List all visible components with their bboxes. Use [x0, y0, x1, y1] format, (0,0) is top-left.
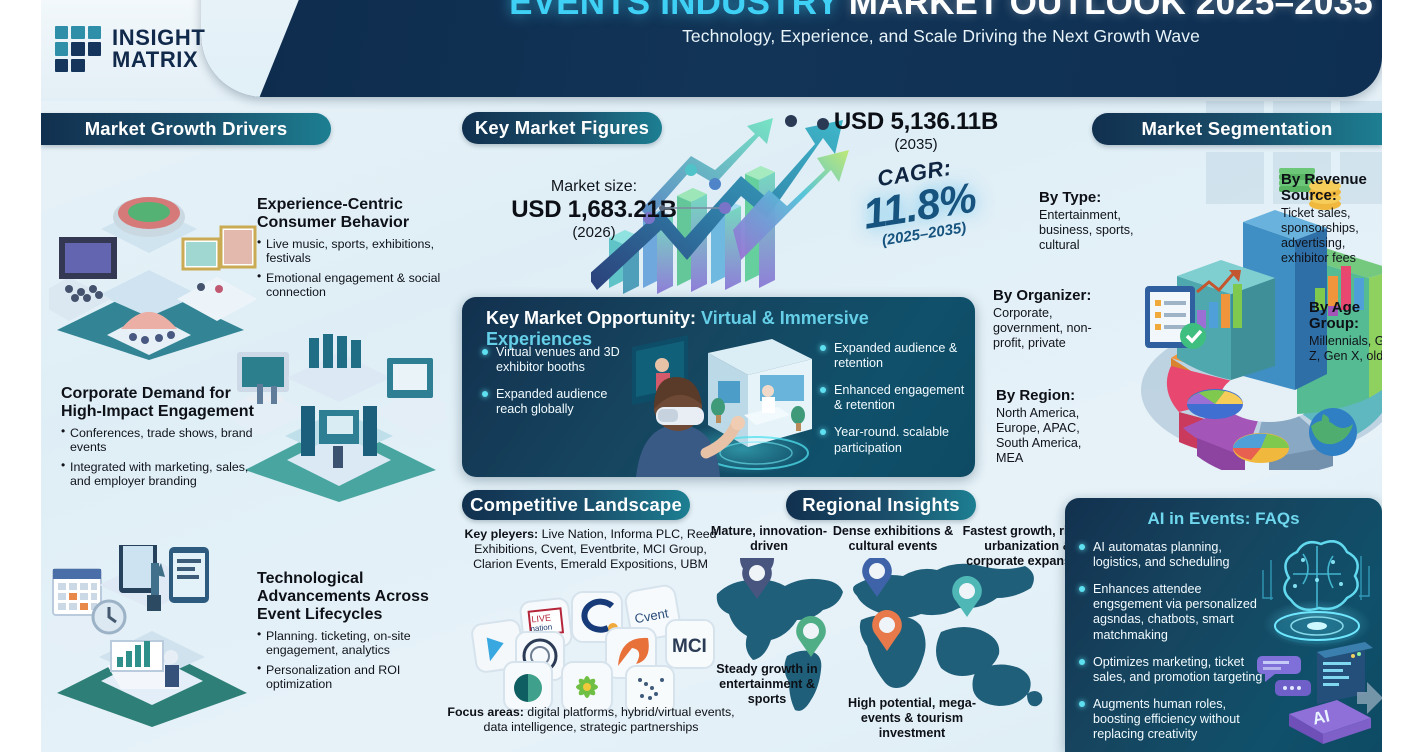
ai-brain-hologram-chip-icon: AI — [1255, 530, 1382, 744]
focus-areas-label: Focus areas: — [447, 705, 523, 719]
list-item: AI automatas planning, logistics, and sc… — [1079, 540, 1271, 570]
list-item: Year-round. scalable participation — [820, 425, 970, 455]
content-plate: EVENTS INDUSTRY MARKET OUTLOOK 2025–2035… — [41, 0, 1382, 752]
segment-heading: By Organizer: — [993, 288, 1097, 304]
title-highlight: EVENTS INDUSTRY — [509, 0, 839, 22]
segment-by-organizer: By Organizer: Corporate, government, non… — [993, 288, 1097, 351]
segment-heading: By Type: — [1039, 190, 1139, 206]
list-item: Expanded audience reach globally — [482, 387, 632, 417]
list-item: Virtual venues and 3D exhibitor booths — [482, 345, 632, 375]
title-rest: MARKET OUTLOOK 2025–2035 — [849, 0, 1373, 22]
key-players-label: Key pleyers: — [464, 527, 538, 541]
list-item: Personalization and ROI optimization — [257, 663, 457, 692]
growth-driver-item: Corporate Demand for High-Impact Engagem… — [61, 385, 271, 488]
infographic-page: EVENTS INDUSTRY MARKET OUTLOOK 2025–2035… — [0, 0, 1424, 752]
list-item: Expanded audience & retention — [820, 341, 970, 371]
growth-driver-item: Technological Advancements Across Event … — [257, 570, 457, 691]
list-item: Integrated with marketing, sales, and em… — [61, 460, 271, 489]
segment-detail: Corporate, government, non-profit, priva… — [993, 306, 1097, 351]
pin-label: Mature, innovation-driven — [711, 524, 827, 553]
section-pill-growth-drivers[interactable]: Market Growth Drivers — [41, 113, 331, 145]
segment-by-revenue-source: By Revenue Source: Ticket sales, sponsor… — [1281, 172, 1381, 266]
list-item: Enhanced engagement & retention — [820, 383, 970, 413]
segment-heading: By Revenue Source: — [1281, 172, 1381, 204]
opportunity-bullets-left: Virtual venues and 3D exhibitor booths E… — [482, 345, 632, 429]
connector-line-left — [659, 200, 737, 216]
section-pill-segmentation[interactable]: Market Segmentation — [1092, 113, 1382, 145]
growth-driver-heading: Experience-Centric Consumer Behavior — [257, 196, 457, 232]
competitive-key-players: Key pleyers: Live Nation, Informa PLC, R… — [458, 527, 723, 572]
regional-label-south-america: Steady growth in entertainment & sports — [706, 662, 828, 707]
segment-detail: Entertainment, business, sports, cultura… — [1039, 208, 1139, 253]
connector-line-right — [783, 112, 809, 130]
segment-heading: By Region: — [996, 388, 1100, 404]
list-item: Enhances attendee engsgement via persona… — [1079, 582, 1271, 642]
list-item: Augments human roles, boosting efficienc… — [1079, 697, 1271, 742]
brand-logo: INSIGHT MATRIX — [55, 26, 205, 72]
isometric-devices-calendar-analytics-icon — [47, 545, 262, 735]
growth-driver-heading: Technological Advancements Across Event … — [257, 570, 457, 624]
market-size-year: (2026) — [489, 224, 699, 241]
growth-driver-bullets: Live music, sports, exhibitions, festiva… — [257, 237, 457, 300]
list-item: Optimizes marketing, ticket sales, and p… — [1079, 655, 1271, 685]
growth-driver-heading: Corporate Demand for High-Impact Engagem… — [61, 385, 271, 421]
section-pill-label: Regional Insights — [802, 494, 960, 516]
growth-driver-bullets: Planning. ticketing, on-site engagement,… — [257, 629, 457, 692]
page-subtitle: Technology, Experience, and Scale Drivin… — [411, 26, 1382, 47]
ai-faqs-title: AI in Events: FAQs — [1065, 509, 1382, 529]
vr-headset-virtual-booth-icon — [622, 329, 822, 477]
section-pill-label: Market Segmentation — [1142, 118, 1333, 140]
segment-detail: Millennials, Gen Z, Gen X, older — [1309, 334, 1382, 364]
brand-line-1: INSIGHT — [112, 27, 205, 49]
forecast-value: USD 5,136.11B — [801, 108, 1031, 136]
ai-faqs-title-label: AI in Events: FAQs — [1147, 509, 1299, 528]
section-pill-competitive[interactable]: Competitive Landscape — [462, 490, 690, 520]
growth-driver-item: Experience-Centric Consumer Behavior Liv… — [257, 196, 457, 299]
segment-heading: By Age Group: — [1309, 300, 1382, 332]
segment-by-type: By Type: Entertainment, business, sports… — [1039, 190, 1139, 253]
opportunity-bullets-right: Expanded audience & retention Enhanced e… — [820, 341, 970, 468]
header-banner: EVENTS INDUSTRY MARKET OUTLOOK 2025–2035… — [201, 0, 1382, 97]
regional-label-north-america: Mature, innovation-driven — [709, 524, 829, 554]
opportunity-title-main: Key Market Opportunity: — [486, 308, 696, 328]
pin-label: Steady growth in entertainment & sports — [716, 662, 817, 706]
list-item: Conferences, trade shows, brand events — [61, 426, 271, 455]
section-pill-label: Market Growth Drivers — [85, 118, 288, 140]
pin-label: Dense exhibitions & cultural events — [833, 524, 953, 553]
brand-line-2: MATRIX — [112, 49, 205, 71]
list-item: Emotional engagement & social connection — [257, 271, 457, 300]
section-pill-label: Competitive Landscape — [470, 494, 682, 516]
regional-label-mea: High potential, mega-events & tourism in… — [847, 696, 977, 741]
brand-wordmark: INSIGHT MATRIX — [112, 27, 205, 71]
company-logo-tiles-icon: LIVE nation Cvent MCI — [466, 580, 716, 710]
segment-by-region: By Region: North America, Europe, APAC, … — [996, 388, 1100, 466]
list-item: Live music, sports, exhibitions, festiva… — [257, 237, 457, 266]
map-pin-south-america — [796, 616, 826, 657]
key-market-opportunity-panel: Key Market Opportunity: Virtual & Immers… — [462, 297, 975, 477]
ai-faqs-bullets: AI automatas planning, logistics, and sc… — [1079, 540, 1271, 752]
map-pin-apac — [952, 576, 982, 617]
market-size-label: Market size: — [489, 178, 699, 196]
header-band: EVENTS INDUSTRY MARKET OUTLOOK 2025–2035… — [41, 0, 1382, 101]
segment-detail: North America, Europe, APAC, South Ameri… — [996, 406, 1100, 465]
segment-detail: Ticket sales, sponsorships, advertising,… — [1281, 206, 1381, 265]
list-item: Planning. ticketing, on-site engagement,… — [257, 629, 457, 658]
regional-label-europe: Dense exhibitions & cultural events — [829, 524, 957, 554]
grid-squares-logo-icon — [55, 26, 101, 72]
svg-text:MCI: MCI — [672, 636, 707, 657]
section-pill-regional[interactable]: Regional Insights — [786, 490, 976, 520]
header-text-group: EVENTS INDUSTRY MARKET OUTLOOK 2025–2035… — [411, 0, 1382, 47]
competitive-focus-areas: Focus areas: digital platforms, hybrid/v… — [446, 705, 736, 735]
growth-driver-bullets: Conferences, trade shows, brand events I… — [61, 426, 271, 489]
segment-by-age-group: By Age Group: Millennials, Gen Z, Gen X,… — [1309, 300, 1382, 364]
pin-label: High potential, mega-events & tourism in… — [848, 696, 976, 740]
page-title: EVENTS INDUSTRY MARKET OUTLOOK 2025–2035 — [411, 0, 1382, 22]
ai-faqs-panel: AI in Events: FAQs AI automatas planning… — [1065, 498, 1382, 752]
